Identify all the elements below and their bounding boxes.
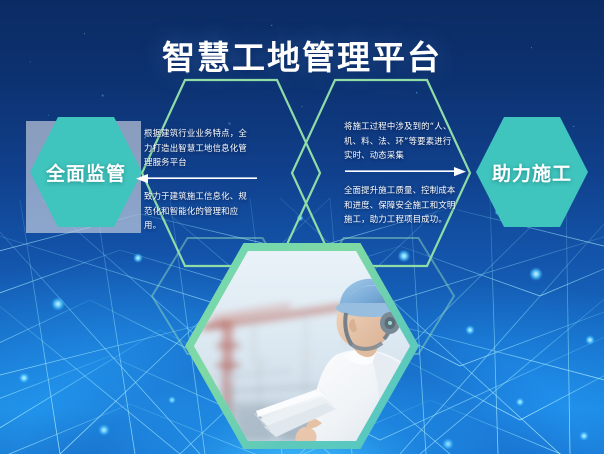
text-left-bottom: 致力于建筑施工信息化、规范化和智能化的管理和应用。 (144, 189, 250, 233)
arrow-right-icon (345, 167, 467, 177)
text-right-top: 将施工过程中涉及到的“人、机、料、法、环”等要素进行实时、动态采集 (344, 119, 452, 163)
arrow-left-icon (135, 174, 257, 184)
text-left-top: 根据建筑行业业务特点，全力打造出智慧工地信息化管理服务平台 (144, 126, 248, 170)
page-title: 智慧工地管理平台 (0, 31, 604, 79)
hexagon-label-left: 全面监管 (46, 159, 126, 186)
hexagon-label-right: 助力施工 (492, 159, 572, 186)
slide-canvas: 智慧工地管理平台 全面监管 助力施工 根据建筑行业业务特点，全力打造出智慧工地信… (0, 0, 604, 454)
photo-hexagon (185, 243, 419, 449)
text-right-bottom: 全面提升施工质量、控制成本和进度、保障安全施工和文明施工，助力工程项目成功。 (344, 183, 456, 227)
